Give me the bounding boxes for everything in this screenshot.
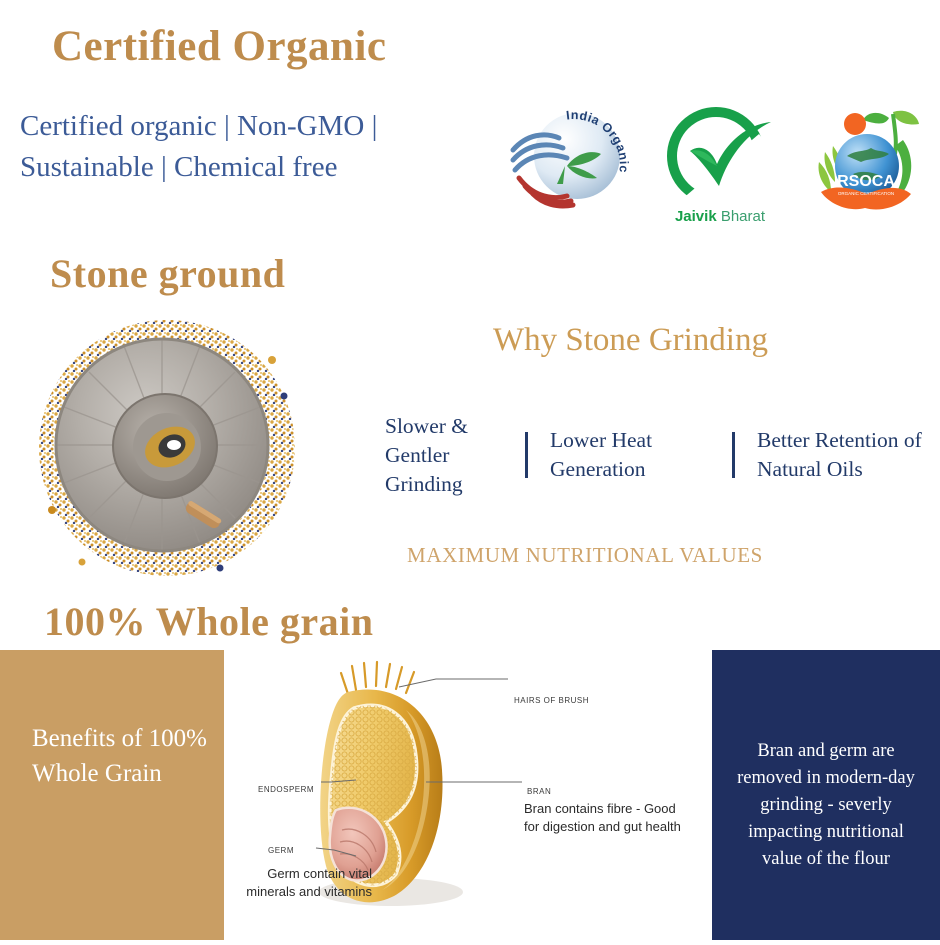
benefit-item-3: Better Retention of Natural Oils	[757, 426, 922, 484]
bharat-word: Bharat	[717, 208, 765, 225]
benefits-panel: Benefits of 100% Whole Grain	[0, 650, 224, 940]
maximum-nutritional-values-text: MAXIMUM NUTRITIONAL VALUES	[0, 543, 940, 568]
kernel-label-hairs-of-brush: HAIRS OF BRUSH	[514, 696, 589, 705]
why-stone-grinding-heading: Why Stone Grinding	[493, 322, 768, 359]
kernel-note-germ: Germ contain vital minerals and vitamins	[244, 865, 372, 902]
kernel-label-endosperm: ENDOSPERM	[258, 785, 314, 794]
kernel-label-bran: BRAN	[527, 787, 551, 796]
organic-claims-line-2: Sustainable | Chemical free	[20, 147, 460, 188]
india-organic-icon: India Organic	[505, 104, 633, 222]
benefit-divider-2	[732, 432, 735, 478]
rsoca-icon: RSOCA ORGANIC CERTIFICATION	[807, 104, 925, 222]
rsoca-logo: RSOCA ORGANIC CERTIFICATION	[807, 104, 925, 222]
wheat-kernel-diagram: HAIRS OF BRUSH BRAN ENDOSPERM GERM Germ …	[236, 660, 712, 940]
jaivik-bharat-caption: Jaivik Bharat	[659, 208, 781, 225]
benefit-divider-1	[525, 432, 528, 478]
organic-claims-text: Certified organic | Non-GMO | Sustainabl…	[20, 106, 460, 188]
leader-line-hairs	[399, 679, 508, 687]
benefit-item-2: Lower Heat Generation	[550, 426, 710, 484]
modern-grinding-panel-text: Bran and germ are removed in modern-day …	[730, 738, 922, 873]
benefits-panel-text: Benefits of 100% Whole Grain	[32, 722, 207, 791]
svg-text:ORGANIC CERTIFICATION: ORGANIC CERTIFICATION	[838, 191, 894, 196]
stone-grinding-benefits-list: Slower & Gentler Grinding Lower Heat Gen…	[385, 412, 940, 498]
organic-claims-line-1: Certified organic | Non-GMO |	[20, 106, 460, 147]
kernel-note-bran: Bran contains fibre - Good for digestion…	[524, 800, 684, 837]
jaivik-word: Jaivik	[675, 208, 717, 225]
certification-logos-row: India Organic Jaivik Bharat	[505, 104, 925, 244]
benefit-item-1: Slower & Gentler Grinding	[385, 412, 503, 498]
page-title-certified-organic: Certified Organic	[52, 22, 387, 71]
section-title-stone-ground: Stone ground	[50, 250, 285, 297]
kernel-label-germ: GERM	[268, 846, 294, 855]
modern-grinding-panel: Bran and germ are removed in modern-day …	[712, 650, 940, 940]
infographic-canvas: Certified Organic Certified organic | No…	[0, 0, 940, 940]
jaivik-bharat-logo: Jaivik Bharat	[659, 104, 781, 234]
jaivik-bharat-icon	[659, 104, 781, 216]
section-title-whole-grain: 100% Whole grain	[44, 598, 374, 645]
india-organic-logo: India Organic	[505, 104, 633, 222]
rsoca-label: RSOCA	[837, 173, 895, 190]
